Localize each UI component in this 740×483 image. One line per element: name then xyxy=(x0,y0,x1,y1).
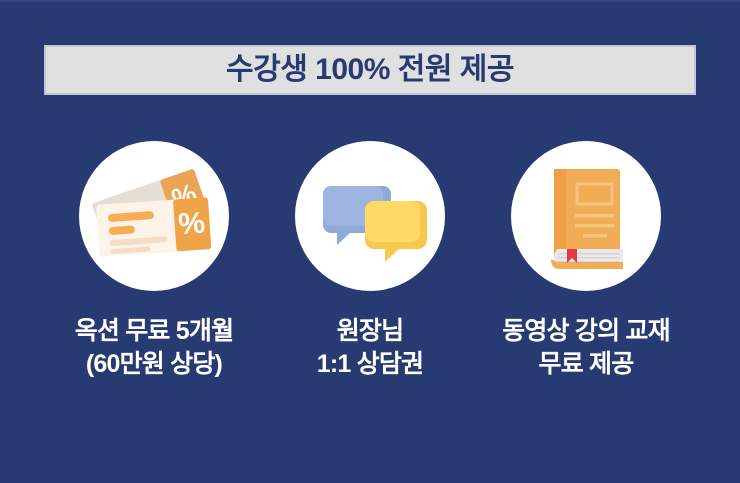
benefit-caption: 동영상 강의 교재 무료 제공 xyxy=(502,315,670,381)
benefit-icon-circle xyxy=(511,141,661,291)
header-banner: 수강생 100% 전원 제공 xyxy=(44,45,696,95)
benefit-icon-circle xyxy=(295,141,445,291)
benefit-item-consultation: 원장님 1:1 상담권 xyxy=(262,141,478,381)
coupon-icon: % % xyxy=(79,141,229,291)
textbook-icon xyxy=(511,141,661,291)
benefit-item-coupon: % % 옥션 무료 5개월 (60만원 상당) xyxy=(46,141,262,381)
benefit-caption: 옥션 무료 5개월 (60만원 상당) xyxy=(75,315,234,381)
benefits-row: % % 옥션 무료 5개월 (60만원 상당) xyxy=(0,141,740,381)
benefit-item-textbook: 동영상 강의 교재 무료 제공 xyxy=(478,141,694,381)
page-title: 수강생 100% 전원 제공 xyxy=(226,55,514,85)
benefit-icon-circle: % % xyxy=(79,141,229,291)
promo-poster: 수강생 100% 전원 제공 % % xyxy=(0,0,740,483)
benefit-caption: 원장님 1:1 상담권 xyxy=(317,315,423,381)
chat-bubbles-icon xyxy=(295,141,445,291)
svg-text:%: % xyxy=(177,207,206,242)
